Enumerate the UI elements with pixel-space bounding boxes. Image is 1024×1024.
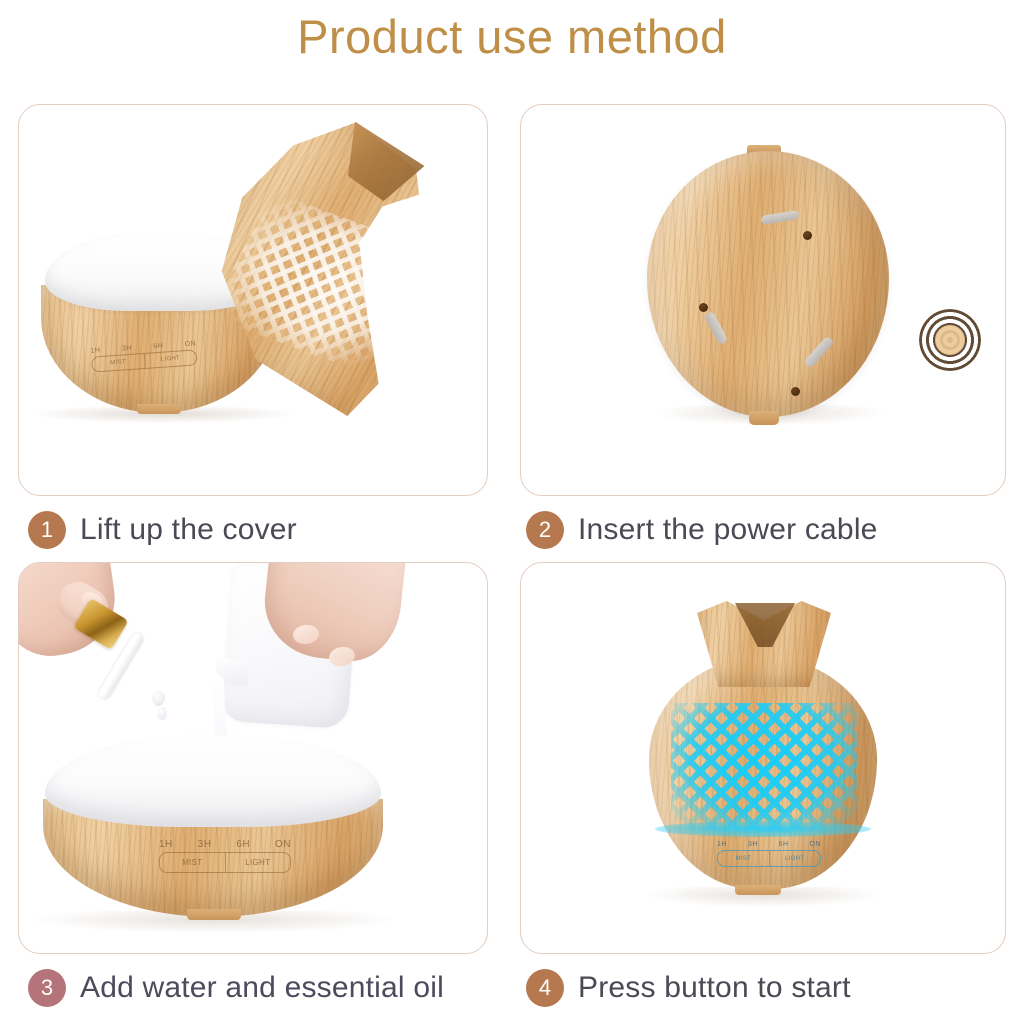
step-1-illustration: 1H 3H 6H ON MIST LIGHT	[19, 105, 487, 495]
mist-button[interactable]: MIST	[160, 853, 225, 872]
page-title: Product use method	[0, 8, 1024, 67]
light-button[interactable]: LIGHT	[225, 853, 291, 872]
timer-labels: 1H 3H 6H ON	[159, 839, 291, 850]
step-badge-1: 1	[28, 511, 66, 549]
timer-label-3h: 3H	[198, 839, 212, 850]
fan-vent-icon	[919, 309, 981, 371]
timer-label-1h: 1H	[717, 841, 727, 848]
dropper-tip	[152, 691, 165, 706]
step-label-1: Lift up the cover	[80, 513, 297, 547]
led-diamond-cutouts	[671, 703, 857, 831]
step-badge-2: 2	[526, 511, 564, 549]
timer-label-3h: 3H	[748, 841, 758, 848]
timer-label-1h: 1H	[90, 347, 100, 355]
mist-button[interactable]: MIST	[92, 354, 144, 372]
timer-label-6h: 6H	[236, 839, 250, 850]
button-pair: MIST LIGHT	[159, 852, 291, 873]
base-foot	[749, 411, 779, 425]
timer-label-on: ON	[275, 839, 291, 850]
screw-icon	[791, 387, 800, 396]
timer-labels: 1H 3H 6H ON	[717, 841, 821, 848]
step-label-3: Add water and essential oil	[80, 971, 444, 1005]
step-label-2: Insert the power cable	[578, 513, 878, 547]
base-foot	[735, 885, 781, 895]
step-card-1: 1H 3H 6H ON MIST LIGHT	[18, 104, 488, 496]
screw-icon	[803, 231, 812, 240]
step-caption-3: 3 Add water and essential oil	[28, 964, 444, 1012]
timer-label-6h: 6H	[779, 841, 789, 848]
screw-icon	[699, 303, 708, 312]
base-foot	[187, 909, 241, 920]
step-card-3: 1H 3H 6H ON MIST LIGHT	[18, 562, 488, 954]
step-card-4: 1H 3H 6H ON MIST LIGHT	[520, 562, 1006, 954]
timer-label-6h: 6H	[153, 343, 163, 351]
step-2-illustration	[521, 105, 1005, 495]
light-button[interactable]: LIGHT	[143, 350, 196, 368]
diffuser-white-lid	[45, 735, 381, 827]
timer-label-1h: 1H	[159, 839, 173, 850]
step-caption-2: 2 Insert the power cable	[526, 506, 878, 554]
base-foot	[137, 404, 181, 414]
step-badge-4: 4	[526, 969, 564, 1007]
step-label-4: Press button to start	[578, 971, 851, 1005]
button-pair: MIST LIGHT	[717, 850, 821, 867]
step-4-illustration: 1H 3H 6H ON MIST LIGHT	[521, 563, 1005, 953]
step-badge-3: 3	[28, 969, 66, 1007]
control-panel[interactable]: 1H 3H 6H ON MIST LIGHT	[159, 839, 291, 873]
step-3-illustration: 1H 3H 6H ON MIST LIGHT	[19, 563, 487, 953]
essential-oil-droplet	[157, 707, 167, 720]
light-button[interactable]: LIGHT	[769, 851, 821, 866]
timer-label-on: ON	[809, 841, 821, 848]
step-caption-1: 1 Lift up the cover	[28, 506, 297, 554]
timer-label-3h: 3H	[122, 345, 132, 353]
diffuser-underside-disc	[647, 151, 889, 417]
led-light-ring	[655, 821, 871, 837]
step-card-2	[520, 104, 1006, 496]
control-panel[interactable]: 1H 3H 6H ON MIST LIGHT	[717, 841, 821, 867]
mist-button[interactable]: MIST	[718, 851, 769, 866]
step-caption-4: 4 Press button to start	[526, 964, 851, 1012]
infographic-page: Product use method 1H 3H 6H ON MIST LIGH…	[0, 0, 1024, 1024]
